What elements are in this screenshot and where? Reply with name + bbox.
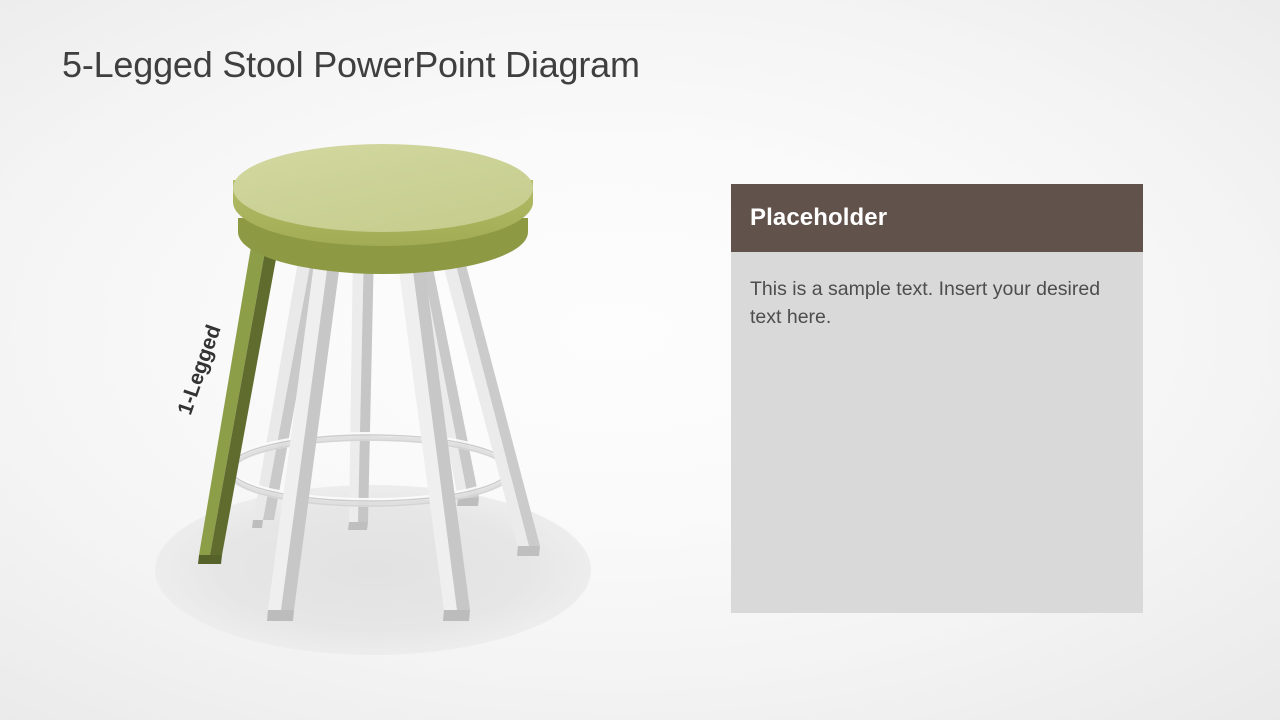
placeholder-body-text: This is a sample text. Insert your desir… (750, 276, 1123, 331)
placeholder-header: Placeholder (731, 184, 1143, 252)
placeholder-header-title: Placeholder (750, 204, 887, 232)
page-title: 5-Legged Stool PowerPoint Diagram (62, 44, 640, 86)
placeholder-card[interactable]: Placeholder This is a sample text. Inser… (731, 184, 1143, 613)
placeholder-body[interactable]: This is a sample text. Insert your desir… (731, 252, 1143, 613)
stool-seat (233, 144, 533, 274)
slide-canvas: 5-Legged Stool PowerPoint Diagram (0, 0, 1280, 720)
